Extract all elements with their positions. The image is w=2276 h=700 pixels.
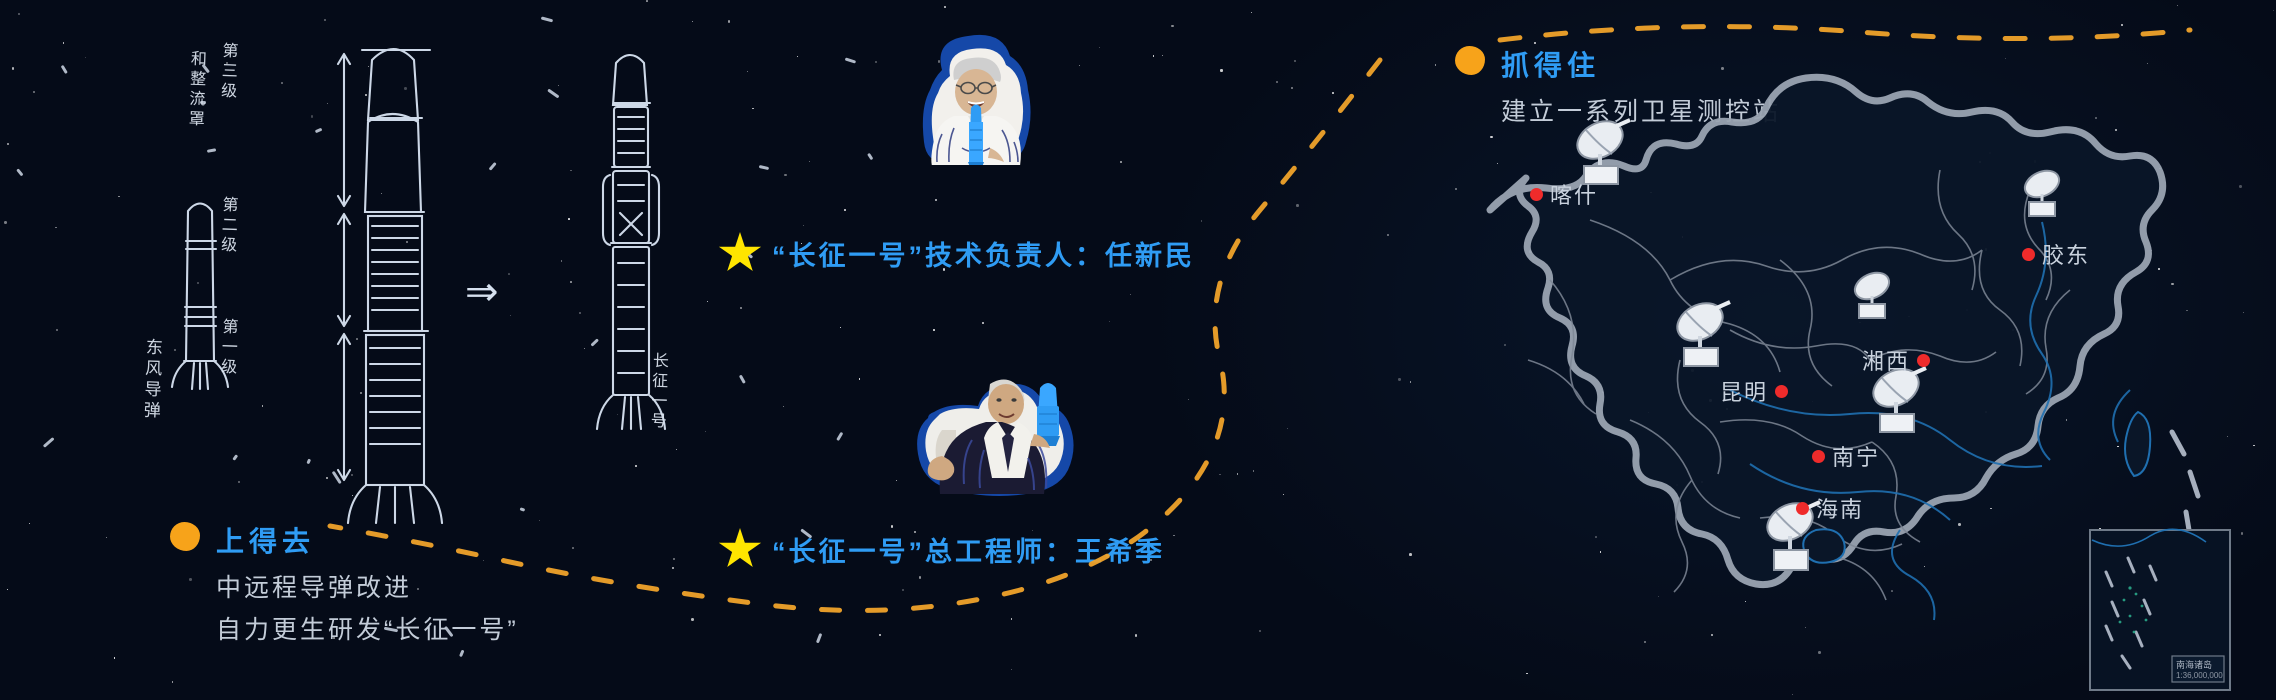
star-dot	[783, 406, 784, 407]
yellow-star-icon	[718, 232, 762, 274]
label-stage-1: 第一级	[217, 318, 236, 379]
city-label: 湘西	[1862, 344, 1910, 376]
star-dot	[63, 42, 64, 43]
star-dot	[1332, 92, 1333, 93]
star-dot	[2005, 58, 2006, 59]
star-dot	[902, 589, 904, 591]
star-dot	[238, 481, 239, 482]
star-dot	[844, 209, 846, 211]
star-dot	[1162, 55, 1163, 56]
star-dot	[752, 108, 754, 110]
city-dot-icon	[1775, 385, 1788, 398]
star-streak	[17, 168, 24, 176]
star-dot	[1253, 470, 1255, 472]
star-dot	[324, 19, 326, 21]
label-stage-3: 第三级	[217, 42, 236, 103]
star-dot	[561, 260, 562, 261]
star-dot	[1294, 60, 1297, 63]
star-dot	[1079, 65, 1080, 66]
person-line-1: “长征一号”技术负责人：任新民	[718, 232, 1195, 274]
star-streak	[541, 17, 554, 23]
star-dot	[691, 618, 694, 621]
china-map: 南海诸岛 1:36,000,000	[1430, 60, 2276, 700]
star-dot	[12, 67, 15, 70]
star-dot	[1276, 81, 1278, 83]
star-dot	[1259, 630, 1261, 632]
star-dot	[1410, 381, 1411, 382]
dongfeng-missile-sketch	[150, 195, 270, 395]
city-dot-icon	[1812, 450, 1825, 463]
star-dot	[1153, 55, 1155, 57]
star-dot	[896, 480, 897, 481]
star-dot	[4, 221, 7, 224]
star-dot	[859, 378, 861, 380]
star-dot	[1109, 321, 1110, 322]
star-dot	[33, 91, 35, 93]
star-dot	[2273, 10, 2274, 11]
inset-label: 南海诸岛	[2176, 659, 2212, 670]
star-dot	[784, 174, 787, 177]
star-dot	[1283, 494, 1284, 495]
label-fairing: 和整流罩	[185, 50, 205, 131]
cz1-result-sketch	[570, 45, 710, 475]
star-dot	[1287, 428, 1288, 429]
star-dot	[1201, 220, 1202, 221]
star-dot	[673, 558, 675, 560]
star-streak	[62, 64, 69, 73]
star-dot	[1120, 161, 1122, 163]
star-dot	[189, 578, 192, 581]
star-dot	[747, 71, 748, 72]
star-dot	[510, 315, 511, 316]
star-dot	[7, 143, 9, 145]
star-dot	[875, 61, 877, 63]
city-dot-icon	[1530, 188, 1543, 201]
star-streak	[739, 374, 746, 383]
star-dot	[1387, 234, 1390, 237]
star-dot	[1130, 294, 1131, 295]
city-dot-icon	[1796, 502, 1809, 515]
star-streak	[868, 153, 874, 160]
star-dot	[2177, 5, 2178, 6]
taiwan-island	[2125, 412, 2150, 476]
star-dot	[56, 329, 58, 331]
star-streak	[759, 165, 769, 170]
star-dot	[1011, 669, 1012, 670]
star-dot	[1409, 553, 1412, 556]
star-dot	[919, 576, 922, 579]
star-dot	[692, 21, 693, 22]
city-label: 胶东	[2042, 238, 2090, 270]
city-marker-1: 胶东	[2022, 238, 2090, 270]
star-dot	[106, 537, 107, 538]
star-dot	[1251, 12, 1253, 14]
caption-left-heading: 上得去	[216, 520, 315, 560]
orange-dot-icon	[170, 522, 200, 551]
star-streak	[845, 57, 856, 63]
city-marker-5: 海南	[1796, 492, 1864, 524]
star-dot	[1237, 473, 1238, 474]
city-marker-4: 南宁	[1812, 440, 1880, 472]
star-dot	[646, 0, 648, 2]
star-dot	[728, 20, 730, 22]
china-map-svg: 南海诸岛 1:36,000,000	[1430, 60, 2276, 700]
star-dot	[879, 634, 880, 635]
south-sea-dash-line	[2172, 432, 2198, 536]
city-label: 南宁	[1832, 440, 1880, 472]
portrait-wang-xiji	[898, 348, 1074, 498]
star-dot	[262, 405, 264, 407]
person-label-1: “长征一号”技术负责人：任新民	[772, 234, 1195, 273]
star-dot	[558, 85, 559, 86]
star-dot	[1398, 378, 1400, 380]
star-dot	[935, 199, 937, 201]
star-dot	[118, 196, 120, 198]
star-dot	[1135, 634, 1137, 636]
star-dot	[1011, 618, 1013, 620]
star-dot	[982, 322, 984, 324]
star-dot	[85, 57, 86, 58]
star-streak	[207, 148, 216, 152]
star-streak	[816, 634, 822, 644]
star-dot	[1291, 87, 1293, 89]
city-label: 海南	[1816, 492, 1864, 524]
person-line-2: “长征一号”总工程师：王希季	[718, 528, 1165, 570]
city-marker-0: 喀什	[1530, 178, 1598, 210]
city-marker-2: 湘西	[1862, 344, 1930, 376]
portrait-ren-xinmin	[902, 30, 1042, 165]
caption-left-line-1: 中远程导弹改进	[216, 568, 412, 604]
star-dot	[797, 56, 799, 58]
star-dot	[572, 547, 574, 549]
star-dot	[172, 681, 174, 683]
star-streak	[43, 437, 54, 447]
caption-left-line-2: 自力更生研发“长征一号”	[216, 610, 519, 646]
star-dot	[1171, 25, 1174, 28]
star-dot	[1188, 399, 1189, 400]
label-stage-2: 第二级	[217, 196, 236, 257]
star-dot	[1099, 47, 1100, 48]
city-dot-icon	[2022, 248, 2035, 261]
star-dot	[29, 523, 30, 524]
label-dongfeng-missile: 东风导弹	[141, 338, 162, 423]
star-streak	[233, 454, 239, 461]
star-dot	[1173, 535, 1175, 537]
star-dot	[672, 567, 674, 569]
infographic-canvas: ⇒ 东风导弹 第三级 和整流罩 第二级 第一级 长征一号 上得去 中远程导弹改进…	[0, 0, 2276, 700]
star-dot	[7, 589, 8, 590]
star-dot	[1219, 474, 1221, 476]
star-dot	[1296, 204, 1299, 207]
star-dot	[944, 6, 946, 8]
star-dot	[809, 161, 810, 162]
star-dot	[483, 560, 484, 561]
star-streak	[837, 432, 844, 441]
star-dot	[933, 329, 935, 331]
star-dot	[114, 657, 115, 658]
yellow-star-icon	[718, 528, 762, 570]
star-dot	[840, 327, 841, 328]
city-label: 昆明	[1720, 375, 1768, 407]
star-dot	[803, 225, 804, 226]
star-dot	[281, 82, 282, 83]
star-dot	[2121, 24, 2123, 26]
star-dot	[18, 13, 20, 15]
portrait-wang-xiji-image	[898, 348, 1074, 498]
long-march-1-detail-sketch	[300, 30, 490, 550]
person-label-2: “长征一号”总工程师：王希季	[772, 530, 1165, 569]
inset-scale: 1:36,000,000	[2176, 671, 2223, 680]
city-label: 喀什	[1550, 178, 1598, 210]
city-marker-3: 昆明	[1720, 375, 1788, 407]
star-dot	[740, 307, 743, 310]
star-dot	[1220, 69, 1222, 71]
star-dot	[55, 227, 57, 229]
star-dot	[417, 588, 419, 590]
portrait-ren-xinmin-image	[902, 30, 1042, 165]
star-streak	[459, 650, 464, 657]
star-streak	[547, 89, 559, 98]
star-dot	[508, 273, 510, 275]
transform-arrow-icon: ⇒	[465, 272, 499, 312]
label-cz1-result: 长征一号	[647, 352, 667, 433]
city-dot-icon	[1917, 354, 1930, 367]
star-dot	[539, 520, 540, 521]
star-streak	[519, 507, 525, 511]
